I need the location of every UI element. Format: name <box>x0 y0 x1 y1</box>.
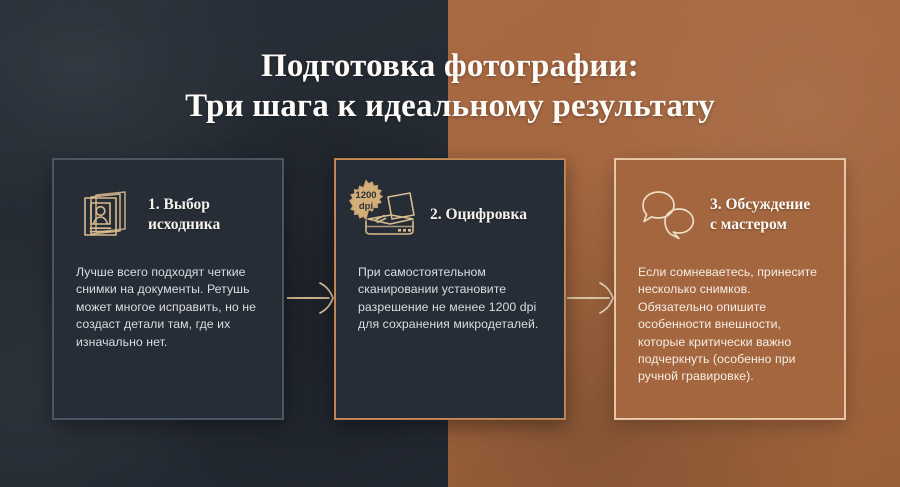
step-card-1[interactable]: 1. Выбор исходника Лучше всего подходят … <box>52 158 284 420</box>
dpi-badge: 1200 dpi <box>345 179 387 226</box>
step-card-3-heading: 3. Обсуждение с мастером <box>710 195 810 235</box>
dpi-badge-unit: dpi <box>359 201 373 212</box>
title-line-1: Подготовка фотографии: <box>0 46 900 86</box>
step-card-1-heading-line-1: 1. Выбор <box>148 195 220 215</box>
id-photo-document-icon <box>76 184 138 246</box>
step-card-2-heading: 2. Оцифровка <box>430 205 527 225</box>
step-card-2-inner: 1200 dpi 2. Оцифровка При самостоятельно… <box>335 159 565 419</box>
step-card-1-heading-line-2: исходника <box>148 215 220 235</box>
infographic-canvas: Подготовка фотографии: Три шага к идеаль… <box>0 0 900 487</box>
step-card-1-heading: 1. Выбор исходника <box>148 195 220 235</box>
step-card-1-header: 1. Выбор исходника <box>76 182 260 248</box>
speech-bubbles-icon <box>638 184 700 246</box>
title-line-2: Три шага к идеальному результату <box>0 86 900 126</box>
step-card-3-header: 3. Обсуждение с мастером <box>638 182 822 248</box>
page-title: Подготовка фотографии: Три шага к идеаль… <box>0 46 900 126</box>
step-card-1-inner: 1. Выбор исходника Лучше всего подходят … <box>53 159 283 419</box>
step-card-3-body: Если сомневаетесь, принесите несколько с… <box>638 264 822 386</box>
dpi-badge-value: 1200 <box>355 190 376 201</box>
step-card-2-heading-line-1: 2. Оцифровка <box>430 205 527 225</box>
step-card-3-heading-line-2: с мастером <box>710 215 810 235</box>
flatbed-scanner-icon: 1200 dpi <box>358 184 420 246</box>
arrow-right-icon-1 <box>287 281 337 315</box>
arrow-right-icon-2 <box>567 281 617 315</box>
step-card-2-body: При самостоятельном сканировании установ… <box>358 264 542 334</box>
step-card-3-inner: 3. Обсуждение с мастером Если сомневаете… <box>615 159 845 419</box>
step-card-3[interactable]: 3. Обсуждение с мастером Если сомневаете… <box>614 158 846 420</box>
step-card-1-body: Лучше всего подходят четкие снимки на до… <box>76 264 260 351</box>
step-card-2[interactable]: 1200 dpi 2. Оцифровка При самостоятельно… <box>334 158 566 420</box>
step-card-2-header: 1200 dpi 2. Оцифровка <box>358 182 542 248</box>
step-card-3-heading-line-1: 3. Обсуждение <box>710 195 810 215</box>
